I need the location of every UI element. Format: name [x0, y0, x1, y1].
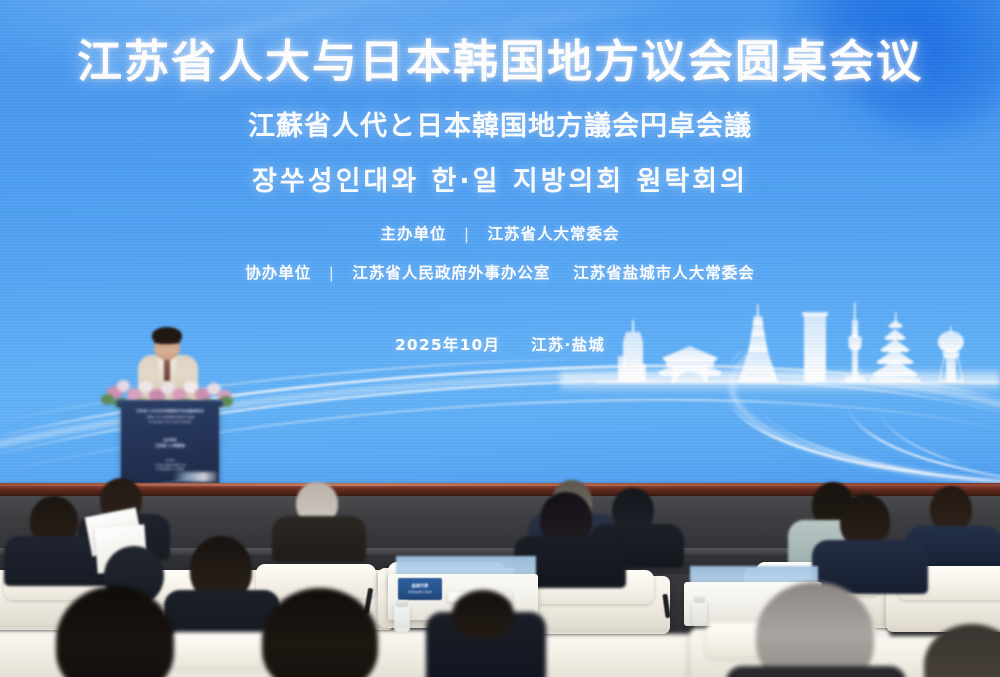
organizer-block: 主办单位 | 江苏省人大常委会 协办单位 | 江苏省人民政府外事办公室 江苏省盐…: [0, 222, 1000, 283]
podium-banner-line-3: 장쑤성인대와 한·일 지방의회 원탁회의: [121, 420, 219, 424]
speaker-hair: [152, 327, 182, 344]
co-label: 协办单位: [245, 264, 311, 282]
backdrop-title-block: 江苏省人大与日本韩国地方议会圆桌会议 江蘇省人代と日本韓国地方議会円卓会議 장쑤…: [0, 0, 1000, 198]
co-value-2: 江苏省盐城市人大常委会: [573, 264, 755, 282]
water-bottle-1[interactable]: [394, 604, 410, 632]
podium-banner-line-1: 江苏省人大与日本韩国地方议会圆桌会议: [121, 409, 219, 414]
podium-plate-line-3: 协办单位: [121, 458, 219, 462]
co-organizer-line: 协办单位 | 江苏省人民政府外事办公室 江苏省盐城市人大常委会: [0, 261, 1000, 283]
name-placard: 盐城代表 Delegate Seat: [398, 578, 442, 600]
event-date: 2025年10月: [395, 336, 500, 354]
host-separator: |: [453, 225, 481, 243]
host-organizer-line: 主办单位 | 江苏省人大常委会: [0, 222, 1000, 244]
title-japanese: 江蘇省人代と日本韓国地方議会円卓会議: [0, 104, 1000, 143]
conference-photo-scene: 江苏省人大与日本韩国地方议会圆桌会议 江蘇省人代と日本韓国地方議会円卓会議 장쑤…: [0, 0, 1000, 677]
podium-banner-line-2: 江蘇省人代と日本韓国地方議会円卓会議: [121, 415, 219, 419]
bottle-cap-1: [396, 600, 408, 607]
host-label: 主办单位: [380, 225, 446, 243]
audience-area: 盐城代表 Delegate Seat: [0, 470, 1000, 677]
title-korean: 장쑤성인대와 한·일 지방의회 원탁회의: [0, 159, 1000, 198]
co-value-1: 江苏省人民政府外事办公室: [352, 264, 550, 282]
title-chinese: 江苏省人大与日本韩国地方议会圆桌会议: [0, 25, 1000, 90]
water-bottle-2[interactable]: [692, 600, 707, 626]
podium-plate-line-2: 江苏省人大常委会: [121, 443, 219, 449]
co-separator: |: [318, 264, 346, 282]
podium-plate-line-1: 主办单位: [121, 437, 219, 442]
skyline-ground-haze: [560, 368, 1000, 394]
bottle-cap-2: [694, 596, 705, 603]
event-location: 江苏·盐城: [531, 336, 605, 354]
placard-secondary-text: Delegate Seat: [398, 590, 442, 594]
placard-primary-text: 盐城代表: [398, 583, 442, 589]
podium-and-speaker: 江苏省人大与日本韩国地方议会圆桌会议 江蘇省人代と日本韓国地方議会円卓会議 장쑤…: [107, 326, 233, 488]
host-value: 江苏省人大常委会: [488, 225, 620, 243]
